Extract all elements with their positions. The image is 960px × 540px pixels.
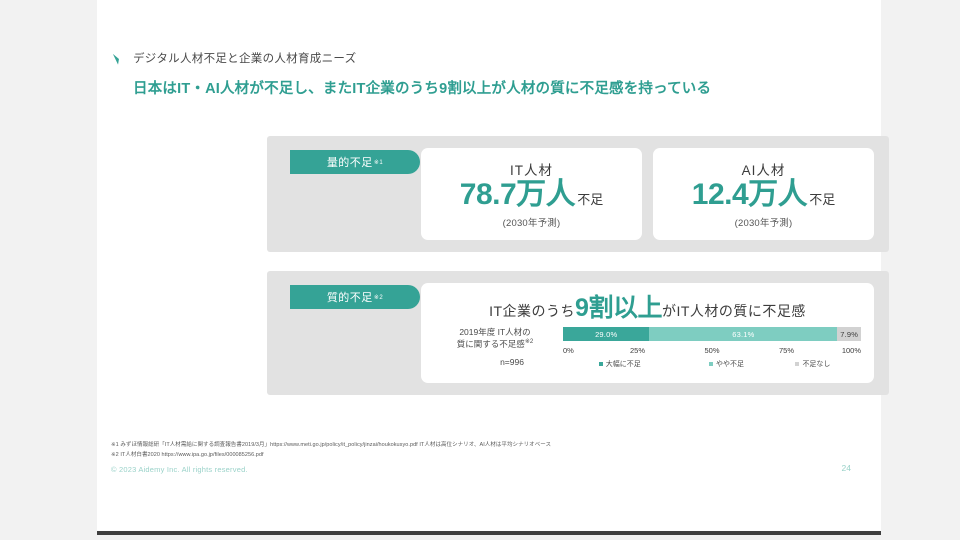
metric-card-ai-jinzai: AI人材 12.4万人 不足 (2030年予測) (653, 148, 874, 240)
tag-quantitative-footnote-marker: ※1 (374, 159, 383, 166)
quality-headline: IT企業のうち9割以上がIT人材の質に不足感 (421, 296, 874, 321)
page-title: 日本はIT・AI人材が不足し、またIT企業のうち9割以上が人材の質に不足感を持っ… (133, 82, 861, 97)
chart-x-axis: 0% 25% 50% 75% 100% (563, 346, 861, 357)
stacked-bar: 29.0% 63.1% 7.9% (563, 327, 861, 341)
legend-label: 大幅に不足 (606, 359, 641, 369)
copyright-text: © 2023 Aidemy Inc. All rights reserved. (111, 465, 248, 474)
bar-segment-slight-shortage: 63.1% (649, 327, 837, 341)
shortage-chart: 2019年度 IT人材の 質に関する不足感※2 n=996 29.0% 63.1… (421, 327, 874, 381)
tag-qualitative-footnote-marker: ※2 (374, 294, 383, 301)
eyebrow-text: デジタル人材不足と企業の人材育成ニーズ (133, 54, 356, 66)
metric-card-value: 78.7万人 (460, 180, 575, 210)
footnote-2: ※2 IT人材白書2020 https://www.ipa.go.jp/file… (111, 450, 551, 460)
quality-headline-post: がIT人材の質に不足感 (662, 303, 806, 319)
chart-row-label: 2019年度 IT人材の 質に関する不足感※2 n=996 (431, 327, 559, 368)
axis-tick-25: 25% (630, 346, 645, 355)
axis-tick-0: 0% (563, 346, 574, 355)
legend-label: 不足なし (802, 359, 830, 369)
legend-item-large-shortage: 大幅に不足 (599, 359, 641, 369)
legend-swatch-icon (709, 362, 713, 366)
chart-row-label-marker: ※2 (525, 339, 533, 345)
slide-header: デジタル人材不足と企業の人材育成ニーズ 日本はIT・AI人材が不足し、またIT企… (111, 52, 861, 97)
legend-item-no-shortage: 不足なし (795, 359, 830, 369)
axis-tick-100: 100% (842, 346, 861, 355)
metric-card-value: 12.4万人 (692, 180, 807, 210)
chart-row-label-line2: 質に関する不足感 (457, 339, 525, 349)
chart-bar-area: 29.0% 63.1% 7.9% 0% 25% 50% 75% 100% (563, 327, 861, 370)
panel-qualitative-shortage: 質的不足※2 IT企業のうち9割以上がIT人材の質に不足感 2019年度 IT人… (267, 271, 889, 395)
footnotes: ※1 みずほ情報総研「IT人材需給に関する調査報告書2019/3月」https:… (111, 440, 551, 461)
bar-segment-large-shortage: 29.0% (563, 327, 649, 341)
metric-card-value-suffix: 不足 (577, 193, 603, 206)
legend-swatch-icon (599, 362, 603, 366)
quality-chart-card: IT企業のうち9割以上がIT人材の質に不足感 2019年度 IT人材の 質に関す… (421, 283, 874, 383)
tag-qualitative-label: 質的不足 (327, 289, 373, 305)
tag-quantitative-label: 量的不足 (327, 154, 373, 170)
slide-bottom-bar (97, 531, 881, 535)
tag-quantitative: 量的不足※1 (290, 150, 420, 174)
chart-sample-size: n=996 (465, 357, 559, 368)
metric-card-note: (2030年予測) (735, 215, 793, 229)
slide-canvas: デジタル人材不足と企業の人材育成ニーズ 日本はIT・AI人材が不足し、またIT企… (97, 0, 881, 532)
metric-card-note: (2030年予測) (503, 215, 561, 229)
flag-icon (111, 52, 126, 67)
bar-segment-no-shortage: 7.9% (837, 327, 861, 341)
footnote-1: ※1 みずほ情報総研「IT人材需給に関する調査報告書2019/3月」https:… (111, 440, 551, 450)
chart-row-label-line1: 2019年度 IT人材の (459, 327, 530, 337)
page-number: 24 (842, 463, 851, 473)
chart-legend: 大幅に不足 やや不足 不足なし (563, 359, 861, 370)
metric-card-title: AI人材 (742, 159, 786, 179)
legend-swatch-icon (795, 362, 799, 366)
axis-tick-50: 50% (704, 346, 719, 355)
axis-tick-75: 75% (779, 346, 794, 355)
metric-card-value-row: 78.7万人 不足 (460, 180, 603, 210)
legend-item-slight-shortage: やや不足 (709, 359, 744, 369)
metric-card-value-suffix: 不足 (809, 193, 835, 206)
metric-card-title: IT人材 (510, 159, 553, 179)
tag-qualitative: 質的不足※2 (290, 285, 420, 309)
quality-headline-emphasis: 9割以上 (575, 294, 662, 322)
metric-card-it-jinzai: IT人材 78.7万人 不足 (2030年予測) (421, 148, 642, 240)
legend-label: やや不足 (716, 359, 744, 369)
quality-headline-pre: IT企業のうち (489, 303, 575, 319)
eyebrow-row: デジタル人材不足と企業の人材育成ニーズ (111, 52, 861, 67)
metric-card-value-row: 12.4万人 不足 (692, 180, 835, 210)
panel-quantitative-shortage: 量的不足※1 IT人材 78.7万人 不足 (2030年予測) AI人材 12.… (267, 136, 889, 252)
